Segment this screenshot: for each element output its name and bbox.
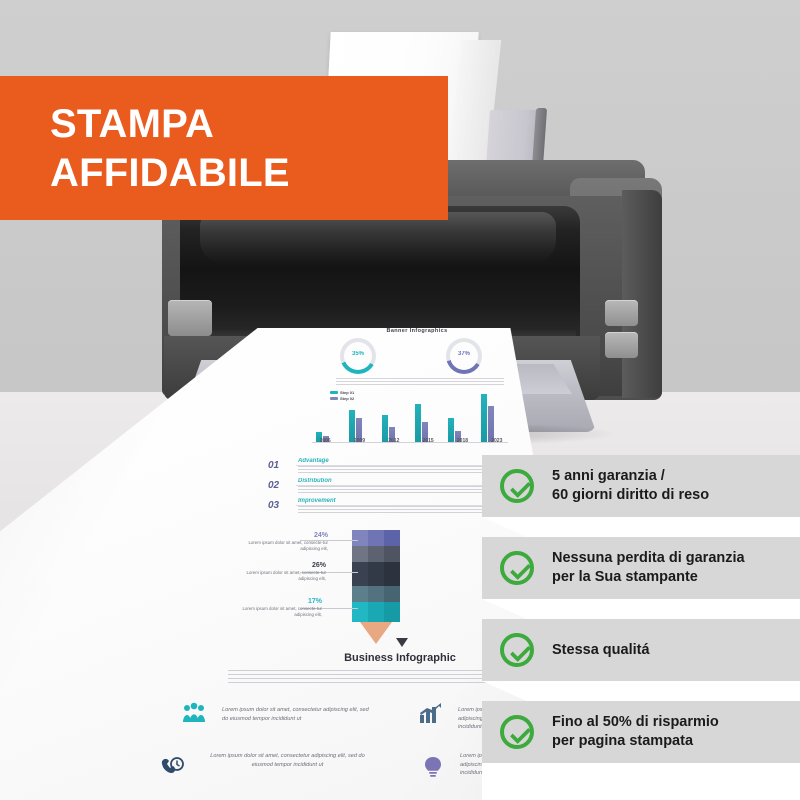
numbered-steps-list: 01 Advantage 02 Distribution 03 Improvem… [268, 458, 498, 518]
feature-panel-4-text: Fino al 50% di risparmio per pagina stam… [552, 713, 719, 750]
list-item: 03 Improvement [268, 498, 498, 518]
printer-right-button-1 [605, 300, 638, 326]
feature-line-2: per pagina stampata [552, 732, 719, 751]
feature-line-1: Stessa qualitá [552, 641, 650, 660]
pyramid-label-1: 24% Lorem ipsum dolor sit amet, consecte… [238, 532, 328, 553]
printer-right-face [622, 190, 662, 398]
pyramid-label-3: 17% Lorem ipsum dolor sit amet, consecte… [222, 598, 322, 619]
feature-panel-2[interactable]: Nessuna perdita di garanzia per la Sua s… [482, 537, 800, 599]
pyramid-row [352, 562, 400, 586]
step-number: 02 [268, 480, 279, 491]
pyramid-percent: 26% [230, 562, 326, 569]
lightbulb-icon [420, 756, 446, 778]
bar-group [415, 404, 428, 442]
x-label: 2009 [342, 438, 376, 444]
pyramid-tip [360, 622, 392, 644]
feature-panel-1-text: 5 anni garanzia / 60 giorni diritto di r… [552, 467, 709, 504]
poster-canvas: Banner Infographics 35% 37% Step 01 Step… [0, 0, 800, 800]
feature-text-clock: Lorem ipsum dolor sit amet, consectetur … [200, 752, 375, 769]
step-label: Advantage [298, 458, 329, 464]
pyramid-text: Lorem ipsum dolor sit amet, consecte-tur… [222, 606, 322, 619]
list-item: 02 Distribution [268, 478, 498, 498]
headline-text: STAMPA AFFIDABILE [50, 100, 440, 198]
feature-panel-4[interactable]: Fino al 50% di risparmio per pagina stam… [482, 701, 800, 763]
feature-panel-2-text: Nessuna perdita di garanzia per la Sua s… [552, 549, 745, 586]
donut-chart-2: 37% [446, 338, 482, 374]
list-item: 01 Advantage [268, 458, 498, 478]
feature-text-people: Lorem ipsum dolor sit amet, consectetur … [222, 706, 372, 723]
check-circle-icon [500, 633, 534, 667]
panel-divider-wedge-1 [482, 517, 800, 537]
pyramid-row [352, 546, 400, 562]
step-number: 01 [268, 460, 279, 471]
feature-panel-1[interactable]: 5 anni garanzia / 60 giorni diritto di r… [482, 455, 800, 517]
step-text-lines [298, 506, 488, 513]
x-label: 2015 [411, 438, 445, 444]
panel-divider-wedge-2 [482, 599, 800, 619]
feature-line-1: Nessuna perdita di garanzia [552, 549, 745, 568]
x-label: 2023 [480, 438, 514, 444]
pyramid-row [352, 530, 400, 546]
x-label: 2012 [377, 438, 411, 444]
pyramid-label-2: 26% Lorem ipsum dolor sit amet, consecte… [230, 562, 326, 583]
check-circle-icon [500, 715, 534, 749]
feature-panel-3[interactable]: Stessa qualitá [482, 619, 800, 681]
donut-label-2: 37% [446, 351, 482, 357]
feature-line-2: per la Sua stampante [552, 568, 745, 587]
panel-divider-wedge-3 [482, 681, 800, 701]
headline-line-1: STAMPA [50, 100, 440, 149]
check-circle-icon [500, 551, 534, 585]
feature-line-1: 5 anni garanzia / [552, 467, 709, 486]
pyramid-percent: 24% [238, 532, 328, 539]
step-label: Distribution [298, 478, 332, 484]
infographic-title: Banner Infographics [352, 328, 482, 334]
step-text-lines [298, 486, 488, 493]
pyramid-row [352, 602, 400, 622]
down-arrow-icon [396, 638, 408, 647]
pyramid-chart [352, 530, 400, 630]
x-label: 2006 [308, 438, 342, 444]
infographic-paragraph [336, 378, 504, 387]
step-label: Improvement [298, 498, 336, 504]
x-label: 2018 [445, 438, 479, 444]
feature-line-2: 60 giorni diritto di reso [552, 486, 709, 505]
printer-right-button-2 [605, 332, 638, 358]
feature-line-1: Fino al 50% di risparmio [552, 713, 719, 732]
pyramid-text: Lorem ipsum dolor sit amet, consecte-tur… [230, 570, 326, 583]
feature-panel-3-text: Stessa qualitá [552, 641, 650, 660]
donut-label-1: 35% [340, 351, 376, 357]
headline-line-2: AFFIDABILE [50, 149, 440, 198]
check-circle-icon [500, 469, 534, 503]
pyramid-row [352, 586, 400, 602]
donut-chart-1: 35% [340, 338, 376, 374]
growth-chart-icon [418, 702, 444, 724]
donut-chart-group: 35% 37% [334, 338, 502, 374]
clock-phone-icon [160, 756, 186, 778]
people-icon [182, 702, 208, 724]
business-infographic-title: Business Infographic [300, 652, 500, 664]
panel-bottom-fill [482, 763, 800, 800]
step-number: 03 [268, 500, 279, 511]
step-text-lines [298, 466, 488, 473]
printer-left-button [168, 300, 212, 336]
pyramid-text: Lorem ipsum dolor sit amet, consecte-tur… [238, 540, 328, 553]
pyramid-percent: 17% [222, 598, 322, 605]
bar-chart-x-labels: 2006 2009 2012 2015 2018 2023 [308, 438, 514, 444]
bar-group [481, 394, 494, 442]
